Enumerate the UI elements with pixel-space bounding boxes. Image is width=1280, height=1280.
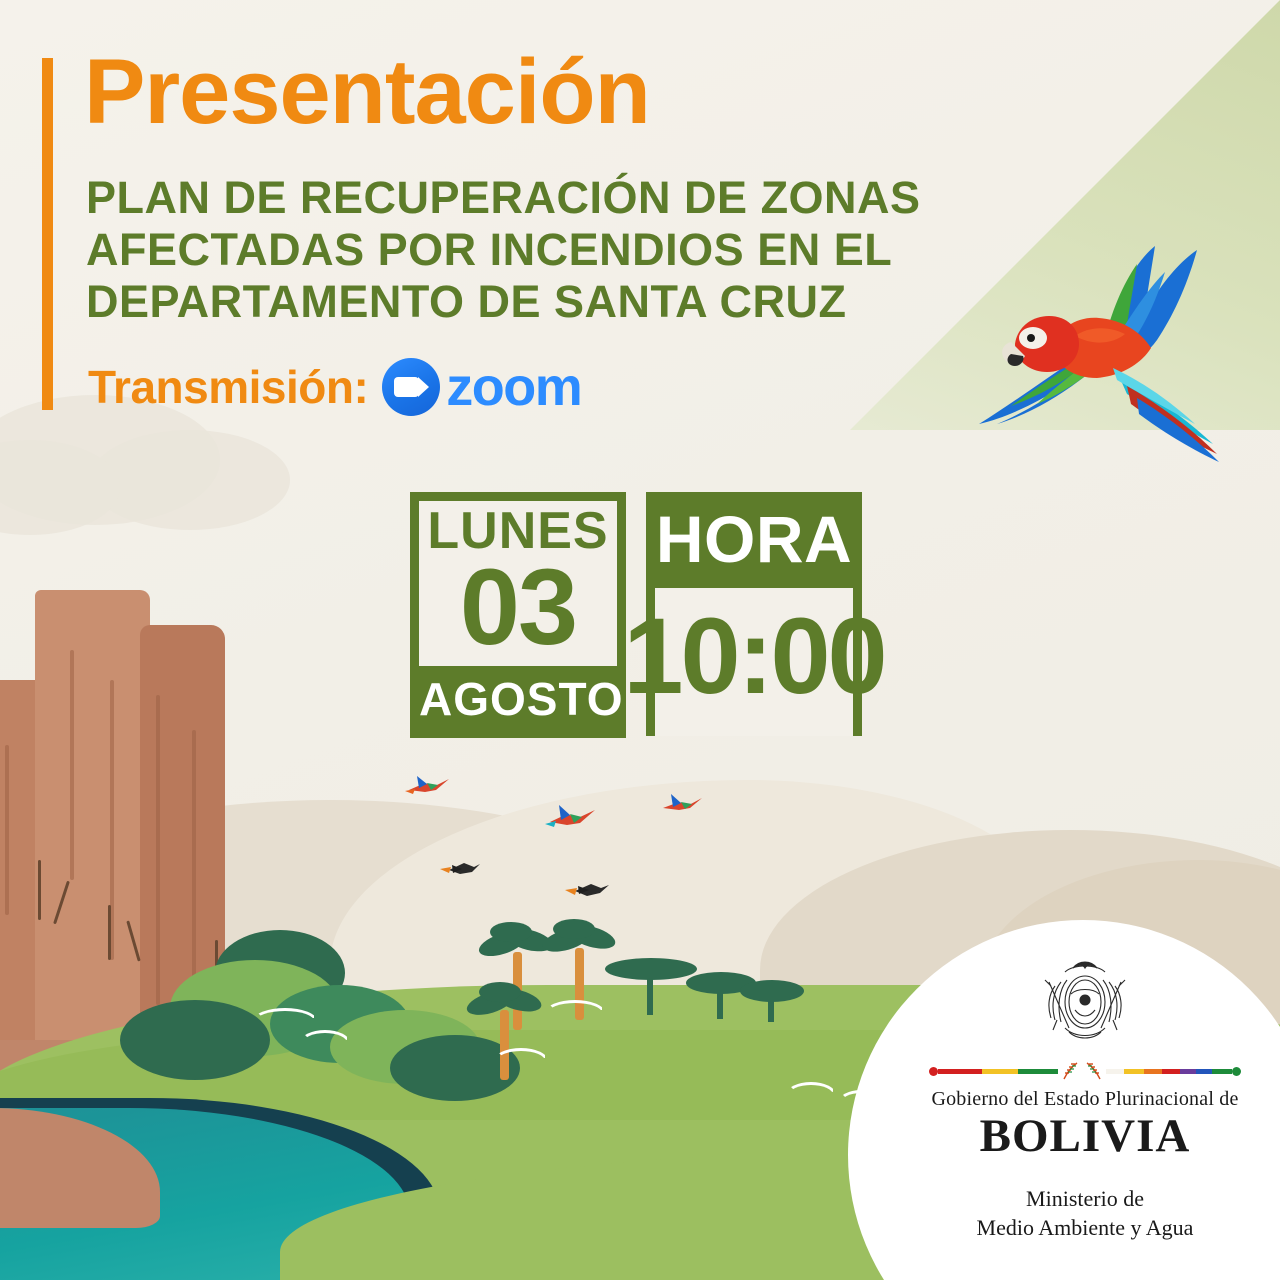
palm-frond — [553, 919, 595, 939]
rule-segment — [1162, 1069, 1180, 1074]
wheat-sprig-icon — [1059, 1061, 1081, 1081]
subtitle-line: PLAN DE RECUPERACIÓN DE ZONAS — [86, 172, 986, 224]
accent-bar — [42, 58, 53, 410]
zoom-logo: zoom — [382, 358, 581, 416]
palm-frond — [479, 982, 521, 1002]
palm-trunk — [500, 1010, 509, 1080]
twig-shape — [38, 860, 41, 920]
hour-label: HORA — [655, 492, 853, 588]
rule-segment — [1018, 1069, 1058, 1074]
macaw-small-icon — [545, 800, 597, 834]
date-day-number: 03 — [419, 557, 617, 656]
ministry-line: Medio Ambiente y Agua — [905, 1214, 1265, 1242]
rule-segment — [1212, 1069, 1232, 1074]
date-month: AGOSTO — [419, 666, 617, 738]
toucan-small-icon — [565, 875, 611, 903]
macaw-small-icon — [660, 790, 704, 818]
date-card: LUNES 03 AGOSTO — [410, 492, 626, 738]
poster-canvas: Presentación PLAN DE RECUPERACIÓN DE ZON… — [0, 0, 1280, 1280]
broadcast-row: Transmisión: zoom — [88, 358, 581, 416]
rule-dot-left — [929, 1067, 938, 1076]
zoom-camera-icon — [382, 358, 440, 416]
rule-segment — [982, 1069, 1018, 1074]
ministry-line: Ministerio de — [905, 1185, 1265, 1213]
page-title: Presentación — [84, 46, 650, 138]
rule-segment — [1144, 1069, 1162, 1074]
zoom-wordmark: zoom — [446, 360, 581, 414]
rule-segment — [1196, 1069, 1212, 1074]
hour-inner-panel: 10:00 — [655, 588, 853, 736]
subtitle-line: AFECTADAS POR INCENDIOS EN EL — [86, 224, 986, 276]
rule-segment — [1180, 1069, 1196, 1074]
twig-shape — [108, 905, 111, 960]
tree-canopy — [605, 958, 697, 980]
macaw-illustration — [955, 228, 1245, 468]
toucan-small-icon — [440, 855, 482, 881]
tricolor-rule — [905, 1061, 1265, 1081]
subtitle-line: DEPARTAMENTO DE SANTA CRUZ — [86, 276, 986, 328]
rule-segment — [1106, 1069, 1124, 1074]
wheat-sprig-icon — [1083, 1061, 1105, 1081]
subtitle: PLAN DE RECUPERACIÓN DE ZONAS AFECTADAS … — [86, 172, 986, 329]
rule-segment — [938, 1069, 982, 1074]
macaw-small-icon — [405, 770, 451, 800]
broadcast-label: Transmisión: — [88, 360, 368, 414]
event-datetime-group: LUNES 03 AGOSTO HORA 10:00 — [410, 492, 862, 738]
date-inner-panel: LUNES 03 — [419, 501, 617, 666]
hour-value: 10:00 — [623, 602, 884, 710]
tree-canopy — [740, 980, 804, 1002]
palm-frond — [490, 922, 532, 942]
country-name: BOLIVIA — [905, 1112, 1265, 1161]
ministry-name: Ministerio de Medio Ambiente y Agua — [905, 1185, 1265, 1241]
bush-shape — [120, 1000, 270, 1080]
tree-trunk — [647, 975, 653, 1015]
bolivia-coat-of-arms-icon — [1025, 952, 1145, 1052]
government-line: Gobierno del Estado Plurinacional de — [905, 1088, 1265, 1111]
hour-card: HORA 10:00 — [646, 492, 862, 736]
logo-content: Gobierno del Estado Plurinacional de BOL… — [905, 952, 1265, 1242]
rule-dot-right — [1232, 1067, 1241, 1076]
cloud-shape — [90, 430, 290, 530]
rule-segment — [1124, 1069, 1144, 1074]
